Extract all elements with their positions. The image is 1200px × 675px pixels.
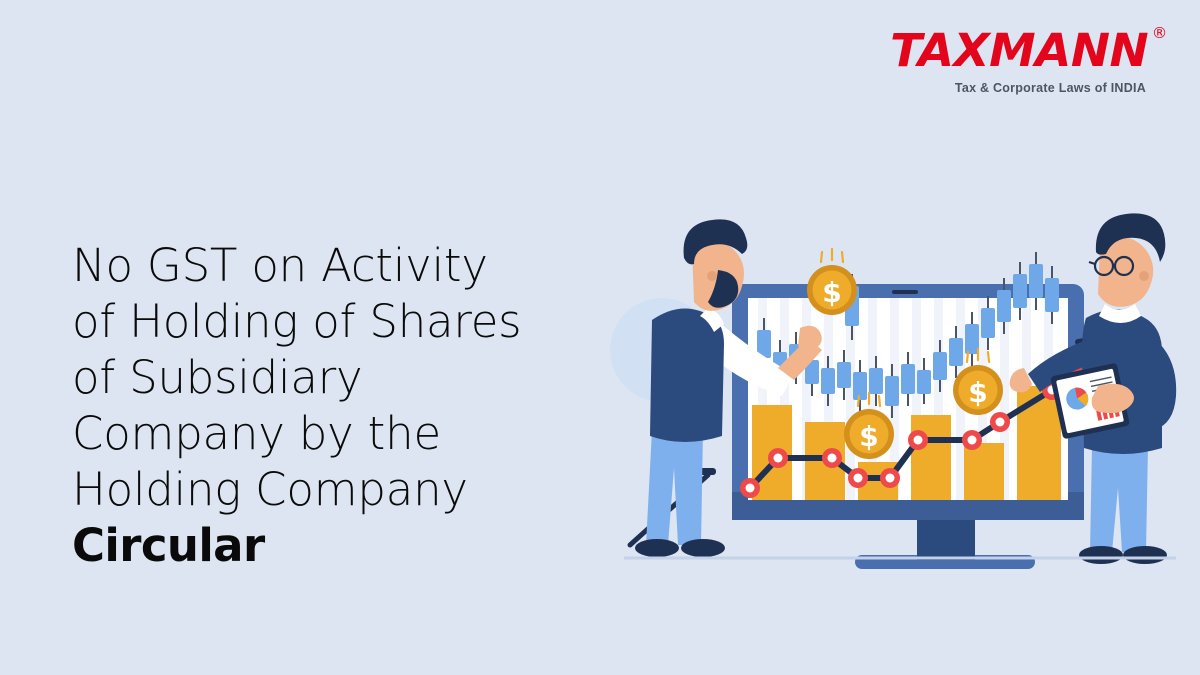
headline-line-6-emphasis: Circular — [72, 518, 612, 574]
monitor-indicator-icon — [892, 290, 918, 294]
right-man-shoe-right — [1123, 546, 1167, 564]
bar-5 — [964, 443, 1004, 500]
left-man-pants — [646, 430, 703, 545]
coin-dollar-icon: $ — [822, 276, 841, 309]
monitor-chin-round — [732, 508, 1084, 520]
monitor-stand-neck — [917, 518, 975, 560]
registered-trademark-icon: ® — [1152, 26, 1167, 41]
banner-canvas: TAXMANN® Tax & Corporate Laws of INDIA N… — [0, 0, 1200, 675]
hero-illustration: $ $ $ — [600, 200, 1200, 620]
logo-tagline: Tax & Corporate Laws of INDIA — [900, 82, 1146, 95]
logo-wordmark-text: TAXMANN® — [890, 28, 1148, 73]
coin-top-center: $ — [807, 249, 857, 315]
headline-line-3: of Subsidiary — [72, 350, 612, 406]
page-title: No GST on Activity of Holding of Shares … — [72, 238, 612, 574]
left-man-ear — [707, 271, 717, 281]
headline-line-1: No GST on Activity — [72, 238, 612, 294]
right-man-shoe-left — [1079, 546, 1123, 564]
headline-line-2: of Holding of Shares — [72, 294, 612, 350]
left-man-shoe-right — [681, 539, 725, 557]
coin-sparkle-icon — [821, 249, 843, 262]
coin-dollar-icon: $ — [859, 420, 878, 453]
headline-line-4: Company by the — [72, 406, 612, 462]
left-man-shoe-left — [635, 539, 679, 557]
right-man-pants — [1090, 446, 1148, 552]
right-man-ear — [1139, 271, 1149, 281]
taxmann-logo: TAXMANN® Tax & Corporate Laws of INDIA — [900, 28, 1148, 95]
bar-6 — [1017, 386, 1061, 500]
bar-4 — [911, 415, 951, 500]
headline-line-5: Holding Company — [72, 462, 612, 518]
coin-dollar-icon: $ — [968, 376, 987, 409]
logo-wordmark-label: TAXMANN — [890, 24, 1148, 77]
